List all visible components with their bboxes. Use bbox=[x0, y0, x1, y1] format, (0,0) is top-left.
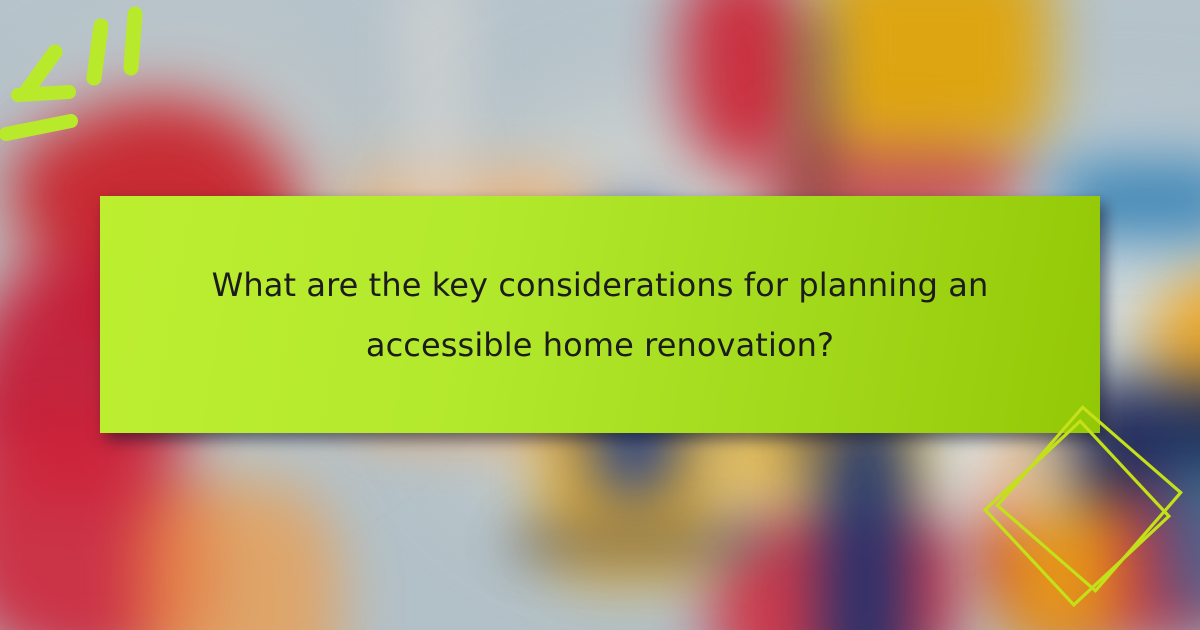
bg-dark-crossbar bbox=[510, 530, 770, 556]
question-card: What are the key considerations for plan… bbox=[0, 0, 1200, 630]
question-text: What are the key considerations for plan… bbox=[205, 255, 995, 375]
bg-orange-lower-left bbox=[140, 480, 340, 630]
bg-blue-teal-right bbox=[1160, 460, 1200, 620]
bg-blue-vertical-center bbox=[820, 400, 910, 630]
question-banner: What are the key considerations for plan… bbox=[100, 196, 1100, 433]
bg-yellow-top bbox=[820, 0, 1050, 150]
